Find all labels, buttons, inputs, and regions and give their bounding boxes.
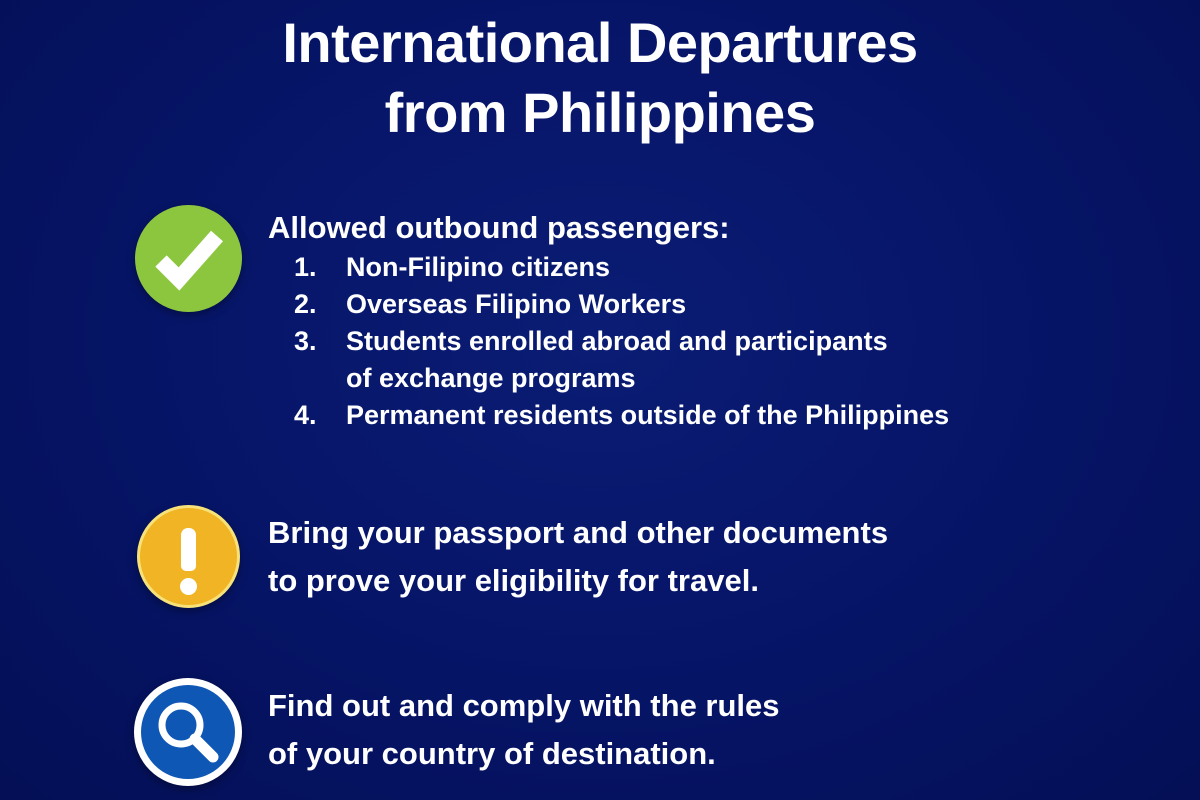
allowed-passengers-list: 1. Non-Filipino citizens 2. Overseas Fil… xyxy=(268,249,949,434)
list-item: 3. Students enrolled abroad and particip… xyxy=(294,323,949,397)
infographic-poster: International Departures from Philippine… xyxy=(0,0,1200,800)
list-item-number: 1. xyxy=(294,249,346,286)
check-circle-icon xyxy=(135,205,242,312)
list-item: 4. Permanent residents outside of the Ph… xyxy=(294,397,949,434)
rules-line-1: Find out and comply with the rules xyxy=(268,682,780,730)
documents-line-1: Bring your passport and other documents xyxy=(268,509,888,557)
rules-text-cell: Find out and comply with the rules of yo… xyxy=(268,678,780,778)
documents-icon-cell xyxy=(108,505,268,608)
documents-text-cell: Bring your passport and other documents … xyxy=(268,505,888,605)
allowed-text-cell: Allowed outbound passengers: 1. Non-Fili… xyxy=(268,205,949,434)
rules-statement: Find out and comply with the rules of yo… xyxy=(268,682,780,778)
list-item: 2. Overseas Filipino Workers xyxy=(294,286,949,323)
documents-statement: Bring your passport and other documents … xyxy=(268,509,888,605)
exclamation-stem xyxy=(181,528,196,571)
list-item: 1. Non-Filipino citizens xyxy=(294,249,949,286)
list-item-number: 4. xyxy=(294,397,346,434)
rules-line-2: of your country of destination. xyxy=(268,730,780,778)
list-item-number: 3. xyxy=(294,323,346,360)
list-item-text: Permanent residents outside of the Phili… xyxy=(346,397,949,434)
exclamation-dot xyxy=(180,578,197,595)
documents-line-2: to prove your eligibility for travel. xyxy=(268,557,888,605)
title-line-1: International Departures xyxy=(0,8,1200,78)
warning-exclamation-icon xyxy=(137,505,240,608)
rules-icon-cell xyxy=(108,678,268,786)
list-item-text: Non-Filipino citizens xyxy=(346,249,610,286)
section-allowed-passengers: Allowed outbound passengers: 1. Non-Fili… xyxy=(108,205,949,434)
title-line-2: from Philippines xyxy=(0,78,1200,148)
page-title: International Departures from Philippine… xyxy=(0,8,1200,148)
list-item-text: Overseas Filipino Workers xyxy=(346,286,686,323)
magnifier-search-icon xyxy=(134,678,242,786)
section-destination-rules: Find out and comply with the rules of yo… xyxy=(108,678,780,786)
list-item-number: 2. xyxy=(294,286,346,323)
list-item-text-line-1: Students enrolled abroad and participant… xyxy=(346,323,888,360)
allowed-icon-cell xyxy=(108,205,268,312)
list-item-text: Students enrolled abroad and participant… xyxy=(346,323,888,397)
allowed-heading: Allowed outbound passengers: xyxy=(268,209,949,247)
list-item-text-line-2: of exchange programs xyxy=(346,360,888,397)
section-documents: Bring your passport and other documents … xyxy=(108,505,888,608)
